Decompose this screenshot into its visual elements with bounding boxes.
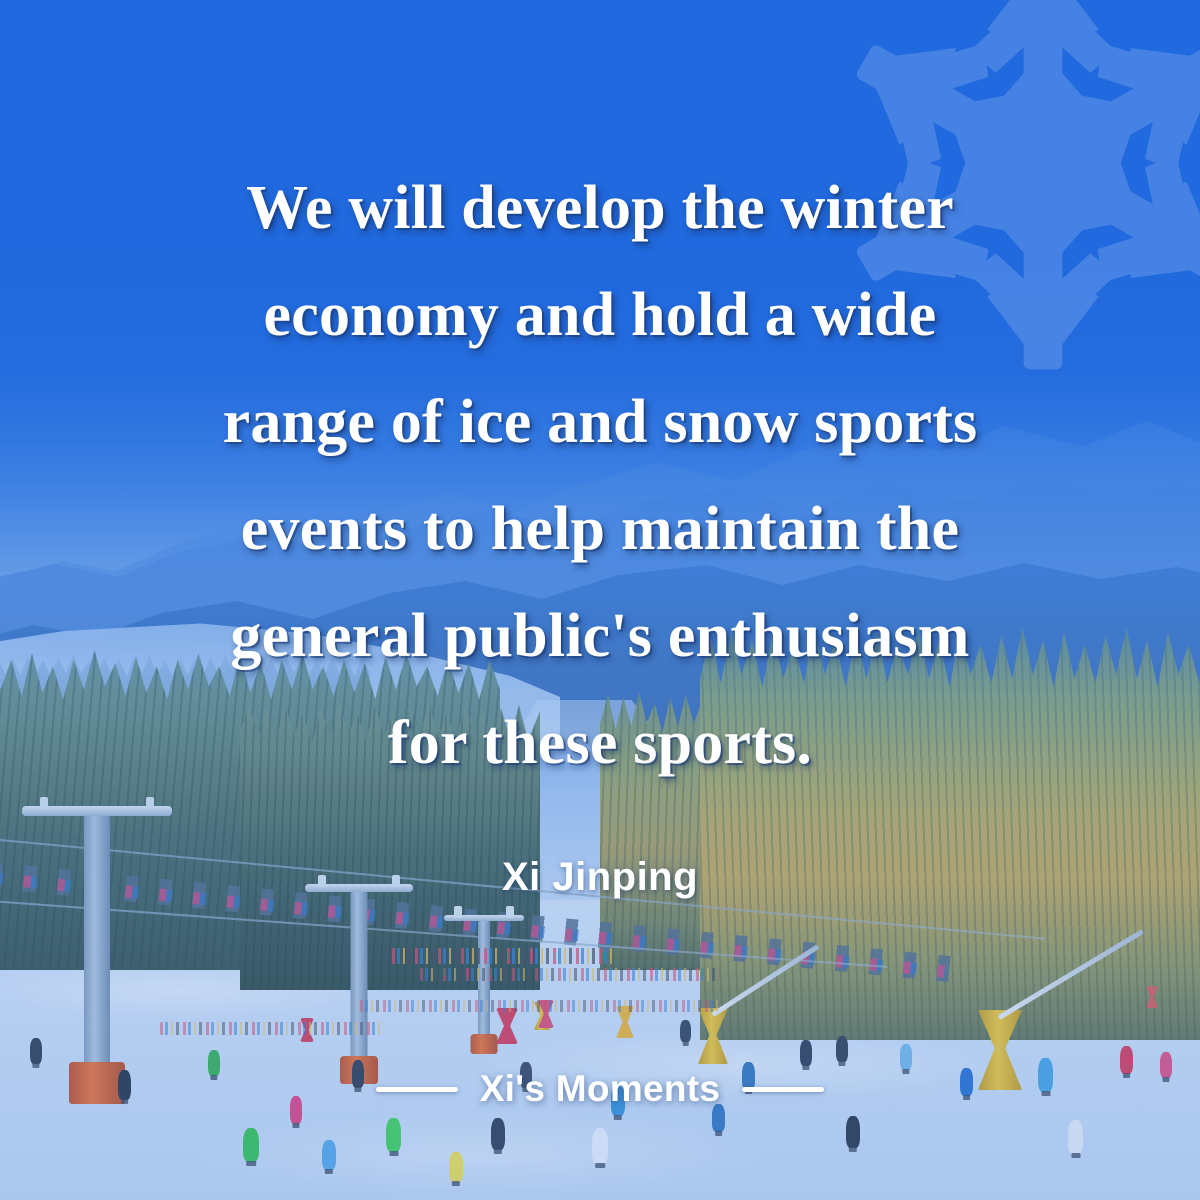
quote-line: economy and hold a wide: [120, 262, 1080, 369]
brand-bar: Xi's Moments: [0, 1068, 1200, 1110]
quote-card: We will develop the winter economy and h…: [0, 0, 1200, 1200]
brand-label: Xi's Moments: [480, 1068, 721, 1110]
brand-rule-left: [376, 1087, 458, 1092]
quote-line: range of ice and snow sports: [120, 369, 1080, 476]
quote-line: events to help maintain the: [120, 476, 1080, 583]
quote-line: We will develop the winter: [120, 155, 1080, 262]
quote-line: general public's enthusiasm: [120, 583, 1080, 690]
quote-attribution: Xi Jinping: [0, 855, 1200, 900]
quote-text: We will develop the winter economy and h…: [0, 155, 1200, 797]
brand-rule-right: [742, 1087, 824, 1092]
quote-line: for these sports.: [120, 690, 1080, 797]
